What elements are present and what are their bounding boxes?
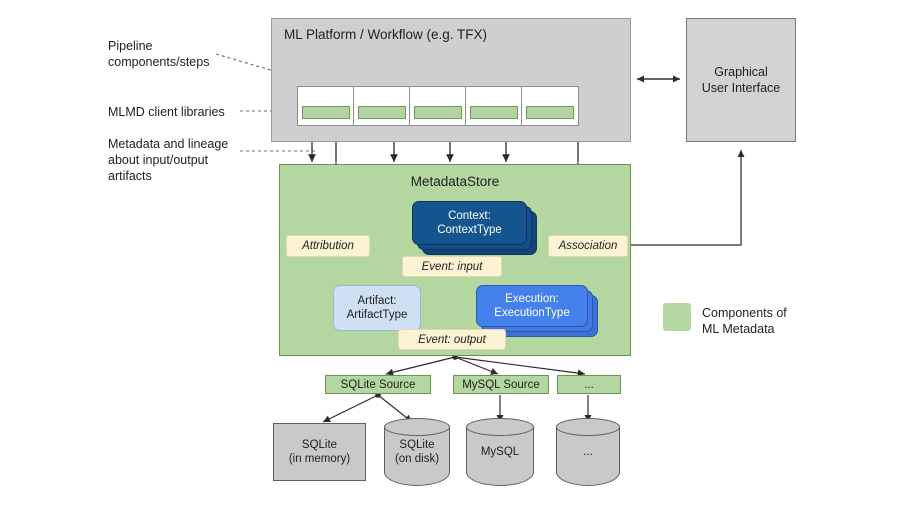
mlmd-client-library-2[interactable] <box>358 106 406 119</box>
metadatastore-title: MetadataStore <box>280 174 630 189</box>
other-db-label: ... <box>556 418 620 486</box>
other-db-store[interactable]: ... <box>556 418 620 486</box>
metadatastore-box: MetadataStore Context: ContextType Execu… <box>279 164 631 356</box>
legend-swatch <box>663 303 691 331</box>
annotation-pipeline-components: Pipeline components/steps <box>108 38 248 70</box>
mysql-store[interactable]: MySQL <box>466 418 534 486</box>
other-source-box[interactable]: ... <box>557 375 621 394</box>
sqlite-source-box[interactable]: SQLite Source <box>325 375 431 394</box>
store-to-sources-arrows <box>386 355 585 374</box>
diagram-canvas: Pipeline components/steps MLMD client li… <box>0 0 900 506</box>
sources-to-storages-arrows <box>323 393 588 422</box>
pipeline-component-3[interactable] <box>409 86 467 126</box>
sqlite-on-disk-label: SQLite (on disk) <box>384 418 450 486</box>
legend-label: Components of ML Metadata <box>702 305 787 337</box>
mlmd-client-library-4[interactable] <box>470 106 518 119</box>
mysql-source-box[interactable]: MySQL Source <box>453 375 549 394</box>
event-input-tag: Event: input <box>402 256 502 277</box>
ml-platform-title: ML Platform / Workflow (e.g. TFX) <box>284 27 487 42</box>
association-gui-arrow <box>627 150 741 245</box>
mlmd-client-library-5[interactable] <box>526 106 574 119</box>
execution-node-label: Execution: ExecutionType <box>476 285 588 327</box>
mlmd-client-library-1[interactable] <box>302 106 350 119</box>
sqlite-on-disk-store[interactable]: SQLite (on disk) <box>384 418 450 486</box>
annotation-mlmd-client-libraries: MLMD client libraries <box>108 104 258 120</box>
sqlite-in-memory-store[interactable]: SQLite (in memory) <box>273 423 366 481</box>
context-node-label: Context: ContextType <box>412 201 527 245</box>
mlmd-client-library-3[interactable] <box>414 106 462 119</box>
pipeline-component-5[interactable] <box>521 86 579 126</box>
pipeline-component-1[interactable] <box>297 86 355 126</box>
pipeline-component-2[interactable] <box>353 86 411 126</box>
annotation-metadata-lineage: Metadata and lineage about input/output … <box>108 136 258 184</box>
mysql-label: MySQL <box>466 418 534 486</box>
artifact-node[interactable]: Artifact: ArtifactType <box>333 285 421 331</box>
pipeline-component-4[interactable] <box>465 86 523 126</box>
context-node[interactable]: Context: ContextType <box>412 201 537 255</box>
graphical-user-interface-box[interactable]: Graphical User Interface <box>686 18 796 142</box>
association-tag: Association <box>548 235 628 257</box>
event-output-tag: Event: output <box>398 329 506 350</box>
attribution-tag: Attribution <box>286 235 370 257</box>
